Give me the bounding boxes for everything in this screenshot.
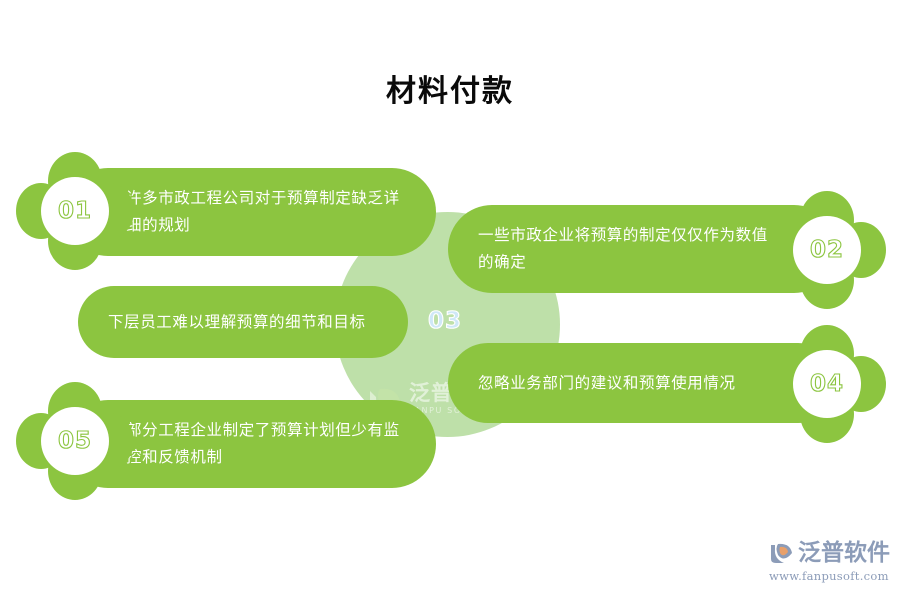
brand-logo: 泛普软件 www.fanpusoft.com [768,540,890,588]
badge-disc: 02 [793,216,861,284]
badge-disc: 05 [41,407,109,475]
item-number: 03 [428,308,462,334]
item-number: 01 [58,198,92,224]
item-bar-03[interactable]: 下层员工难以理解预算的细节和目标 [78,286,408,358]
item-text: 下层员工难以理解预算的细节和目标 [78,309,396,336]
brand-url: www.fanpusoft.com [769,569,889,583]
fanpu-mark-icon [768,540,794,566]
item-number: 02 [810,237,844,263]
item-text: 忽略业务部门的建议和预算使用情况 [448,370,806,397]
badge-flower-05: 05 [16,382,134,500]
badge-disc: 04 [793,350,861,418]
infographic-canvas: 材料付款 泛普软件 FANPU SOFTWARE 01 许多市政工程公司对于预算… [0,0,900,600]
badge-flower-02: 02 [768,191,886,309]
brand-name: 泛普软件 [798,542,890,565]
item-number: 04 [810,371,844,397]
page-title: 材料付款 [0,66,900,110]
badge-flower-01: 01 [16,152,134,270]
badge-disc: 01 [41,177,109,245]
brand-logo-row: 泛普软件 [768,540,890,566]
badge-flower-04: 04 [768,325,886,443]
item-number: 05 [58,428,92,454]
